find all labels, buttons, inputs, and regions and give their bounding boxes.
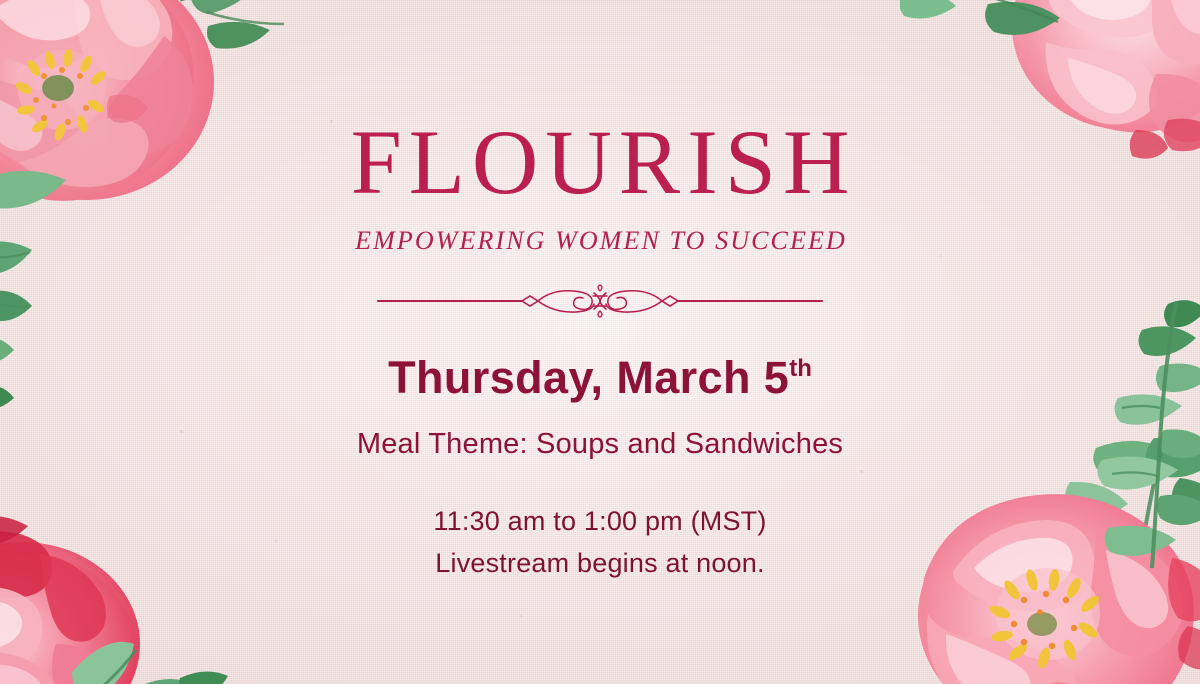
event-date-ordinal: th	[789, 355, 812, 382]
event-tagline: EMPOWERING WOMEN TO SUCCEED	[353, 226, 847, 256]
event-time: 11:30 am to 1:00 pm (MST)	[433, 501, 766, 543]
time-details: 11:30 am to 1:00 pm (MST) Livestream beg…	[433, 501, 766, 585]
livestream-note: Livestream begins at noon.	[433, 543, 766, 585]
flyer-canvas: FLOURISH EMPOWERING WOMEN TO SUCCEED	[0, 0, 1200, 684]
event-date-text: Thursday, March 5	[388, 352, 789, 403]
flyer-content: FLOURISH EMPOWERING WOMEN TO SUCCEED	[0, 0, 1200, 684]
ornamental-flourish-divider	[376, 284, 824, 318]
meal-theme: Meal Theme: Soups and Sandwiches	[357, 428, 843, 461]
event-title: FLOURISH	[344, 118, 857, 206]
event-date: Thursday, March 5th	[388, 352, 812, 404]
